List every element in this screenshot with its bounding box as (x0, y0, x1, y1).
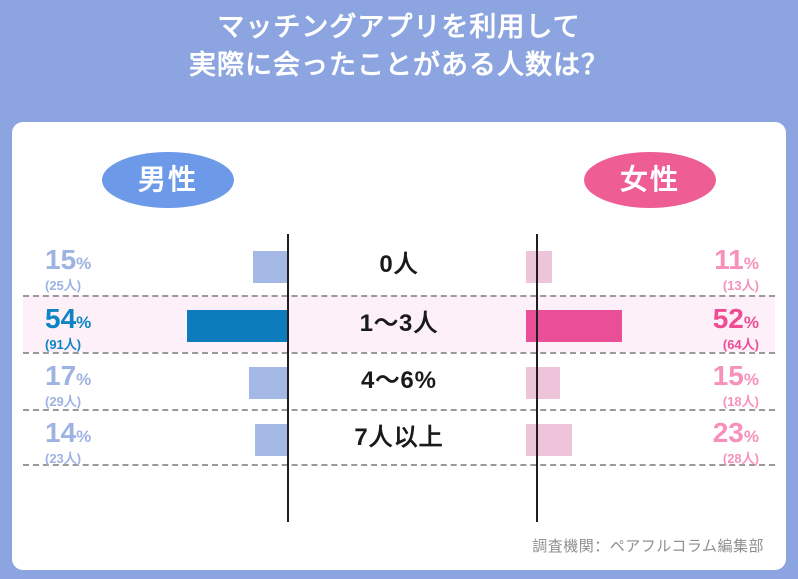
male-axis-line (287, 234, 289, 522)
source-note: 調査機関：ペアフルコラム編集部 (532, 535, 764, 556)
page-title-line-2: 実際に会ったことがある人数は？ (0, 46, 798, 84)
female-axis-line (536, 234, 538, 522)
page-title: マッチングアプリを利用して 実際に会ったことがある人数は？ (0, 8, 798, 84)
legend-badge-male: 男性 (102, 152, 234, 208)
chart-card: 男性 女性 15% (25人) 0人 11% (13人) 54% (91人) 1… (12, 122, 786, 570)
legend-badge-female: 女性 (584, 152, 716, 208)
page-title-line-1: マッチングアプリを利用して (0, 8, 798, 46)
chart-axes (23, 234, 775, 522)
